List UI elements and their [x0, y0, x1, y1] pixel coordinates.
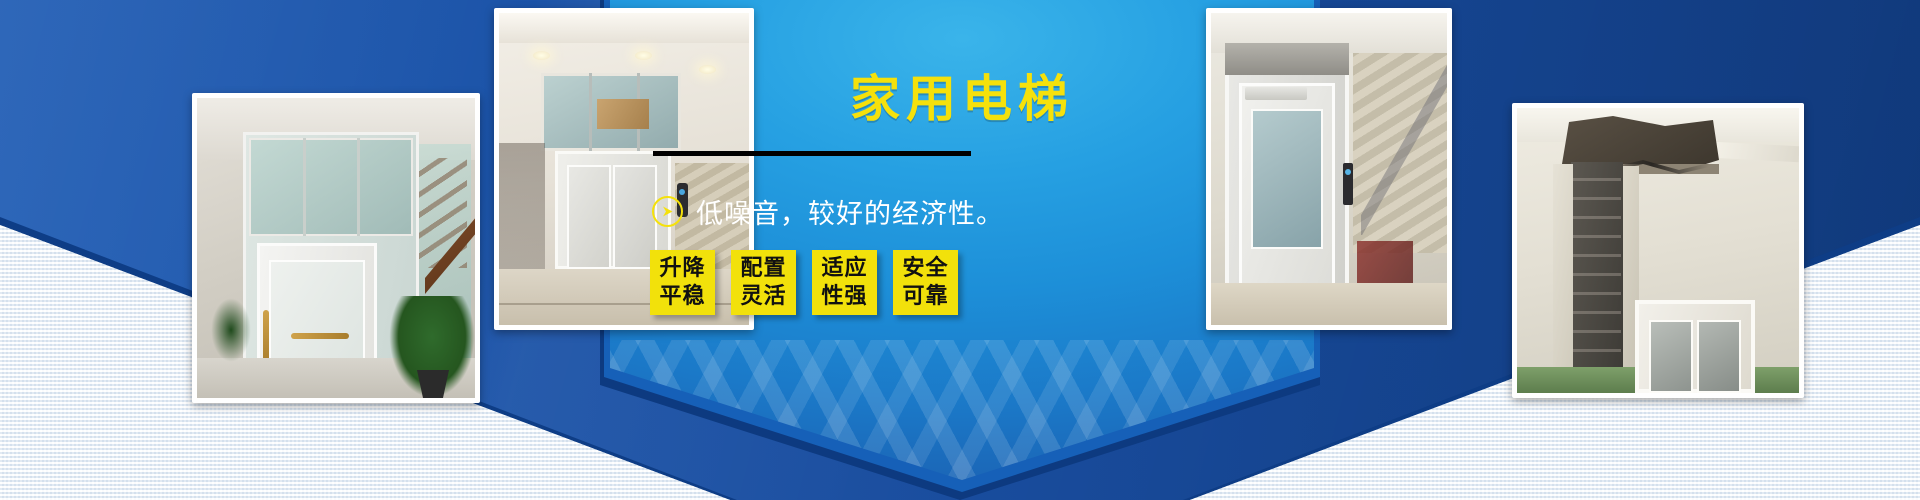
photo2-glass-mullion-1	[589, 73, 592, 151]
feature-badge-1[interactable]: 升降 平稳	[650, 250, 715, 315]
feature-badge-3-line2: 性强	[821, 283, 867, 310]
feature-badge-4[interactable]: 安全 可靠	[893, 250, 958, 315]
circle-play-arrow-icon	[652, 196, 683, 227]
feature-badge-1-line2: 平稳	[659, 283, 705, 310]
feature-badge-2[interactable]: 配置 灵活	[731, 250, 796, 315]
feature-badge-4-line1: 安全	[902, 255, 948, 282]
banner-content: 家用电梯 低噪音，较好的经济性。 升降 平稳 配置 灵活 适应 性强	[610, 0, 1314, 480]
photo1-background-plant	[211, 298, 251, 362]
photo2-cabin-door-left	[567, 165, 611, 269]
photo3-call-panel-light	[1345, 169, 1351, 175]
feature-badge-3[interactable]: 适应 性强	[812, 250, 877, 315]
banner-title: 家用电梯	[610, 74, 1314, 124]
photo-glass-shaft-home-elevator-with-plant[interactable]	[192, 93, 480, 403]
subtitle-row: 低噪音，较好的经济性。	[652, 192, 1004, 231]
feature-badge-3-line1: 适应	[821, 255, 867, 282]
photo3-background-furniture	[1357, 241, 1413, 287]
home-elevator-banner: 家用电梯 低噪音，较好的经济性。 升降 平稳 配置 灵活 适应 性强	[0, 0, 1920, 500]
feature-badge-2-line1: 配置	[740, 255, 786, 282]
photo1-mullion-2	[357, 138, 360, 236]
photo4-cabin-glass-left	[1649, 320, 1693, 393]
title-divider	[653, 151, 971, 156]
photo4-cabin-glass-right	[1697, 320, 1741, 393]
photo1-mullion-1	[303, 138, 306, 236]
photo2-downlight-1	[533, 51, 550, 60]
photo-unfinished-elevator-shaft-construction[interactable]	[1512, 103, 1804, 398]
banner-subtitle: 低噪音，较好的经济性。	[696, 192, 1004, 231]
photo4-column-wrap-left	[1553, 164, 1573, 393]
feature-badge-2-line2: 灵活	[740, 283, 786, 310]
photo1-door-handle-horizontal	[291, 333, 349, 339]
feature-badge-1-line1: 升降	[659, 255, 705, 282]
feature-badge-list: 升降 平稳 配置 灵活 适应 性强 安全 可靠	[650, 250, 958, 315]
photo4-column-texture	[1573, 168, 1621, 390]
photo1-upper-glass	[249, 138, 413, 236]
feature-badge-4-line2: 可靠	[902, 283, 948, 310]
